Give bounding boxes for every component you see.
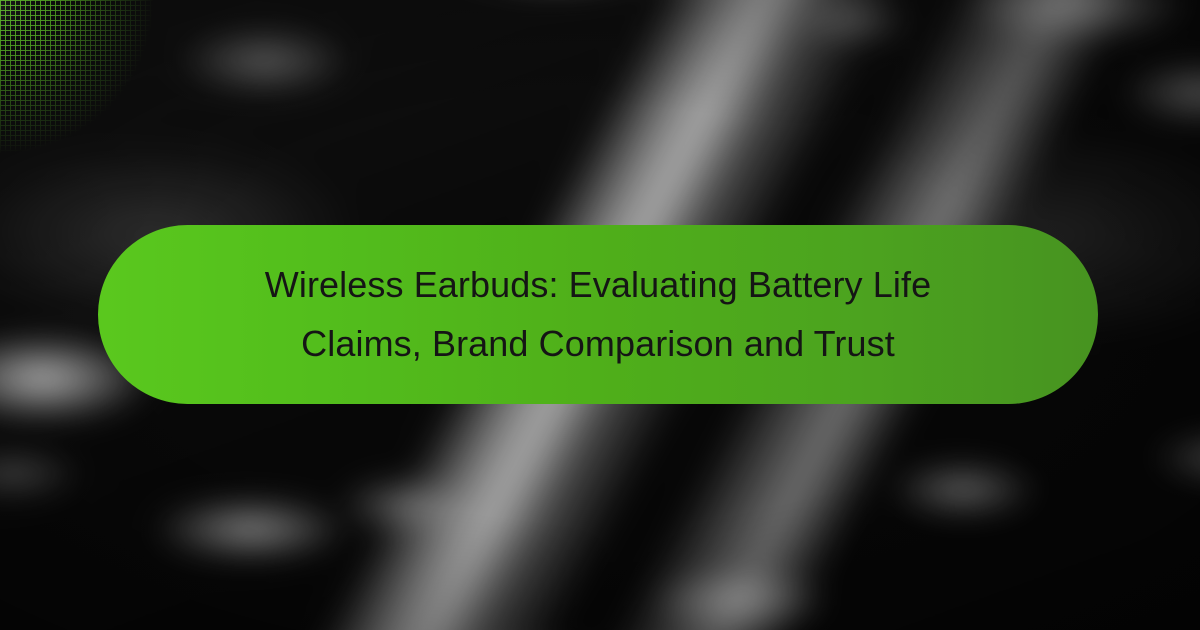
page-title: Wireless Earbuds: Evaluating Battery Lif… bbox=[248, 256, 948, 373]
share-card: Wireless Earbuds: Evaluating Battery Lif… bbox=[0, 0, 1200, 630]
title-badge: Wireless Earbuds: Evaluating Battery Lif… bbox=[98, 225, 1098, 404]
